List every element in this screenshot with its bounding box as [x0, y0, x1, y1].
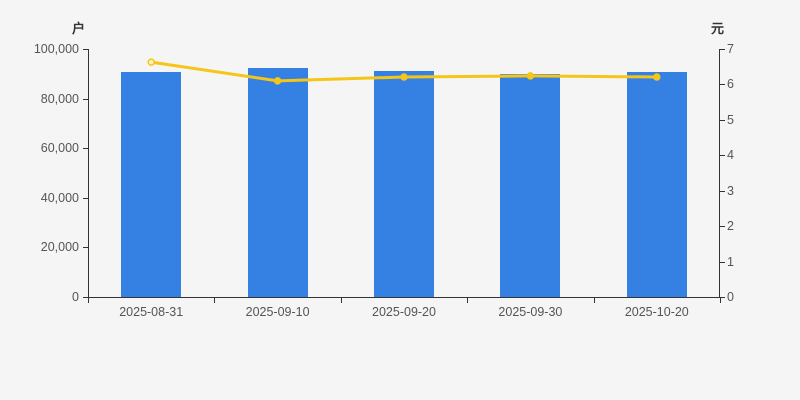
x-axis [88, 297, 720, 298]
right-tick-label: 0 [727, 290, 734, 304]
x-tick-mark [88, 298, 89, 303]
x-axis-category-label: 2025-09-10 [246, 305, 310, 319]
right-tick-label: 4 [727, 148, 734, 162]
left-y-axis [88, 49, 89, 298]
line-data-point[interactable]: 2025-08-31 6.63元 [148, 59, 154, 65]
x-axis-category-label: 2025-09-30 [498, 305, 562, 319]
x-tick-mark [594, 298, 595, 303]
bar[interactable] [374, 71, 434, 297]
left-axis-unit-label: 户 [72, 18, 85, 37]
right-tick-label: 1 [727, 255, 734, 269]
right-axis-unit-label: 元 [711, 18, 724, 37]
left-tick-label: 100,000 [34, 42, 79, 56]
left-tick-mark [83, 247, 88, 248]
bar[interactable] [121, 72, 181, 297]
right-tick-label: 2 [727, 219, 734, 233]
x-axis-category-label: 2025-08-31 [119, 305, 183, 319]
x-tick-mark [467, 298, 468, 303]
right-tick-label: 3 [727, 184, 734, 198]
right-tick-mark [720, 226, 725, 227]
bar[interactable] [500, 74, 560, 297]
right-tick-mark [720, 84, 725, 85]
left-tick-mark [83, 198, 88, 199]
left-tick-label: 40,000 [41, 191, 79, 205]
left-tick-mark [83, 99, 88, 100]
right-tick-mark [720, 191, 725, 192]
left-tick-label: 60,000 [41, 141, 79, 155]
bar[interactable] [627, 72, 687, 297]
left-tick-mark [83, 49, 88, 50]
x-tick-mark [341, 298, 342, 303]
x-axis-category-label: 2025-10-20 [625, 305, 689, 319]
right-tick-label: 7 [727, 42, 734, 56]
x-tick-mark [720, 298, 721, 303]
bar[interactable] [248, 68, 308, 297]
right-tick-label: 5 [727, 113, 734, 127]
left-tick-label: 20,000 [41, 240, 79, 254]
left-tick-label: 80,000 [41, 92, 79, 106]
x-tick-mark [214, 298, 215, 303]
left-tick-label: 0 [72, 290, 79, 304]
right-tick-mark [720, 155, 725, 156]
chart-container: 户 元 020,00040,00060,00080,000100,000 012… [0, 0, 800, 400]
x-axis-category-label: 2025-09-20 [372, 305, 436, 319]
right-tick-mark [720, 120, 725, 121]
right-tick-mark [720, 49, 725, 50]
right-tick-label: 6 [727, 77, 734, 91]
right-tick-mark [720, 262, 725, 263]
left-tick-mark [83, 148, 88, 149]
